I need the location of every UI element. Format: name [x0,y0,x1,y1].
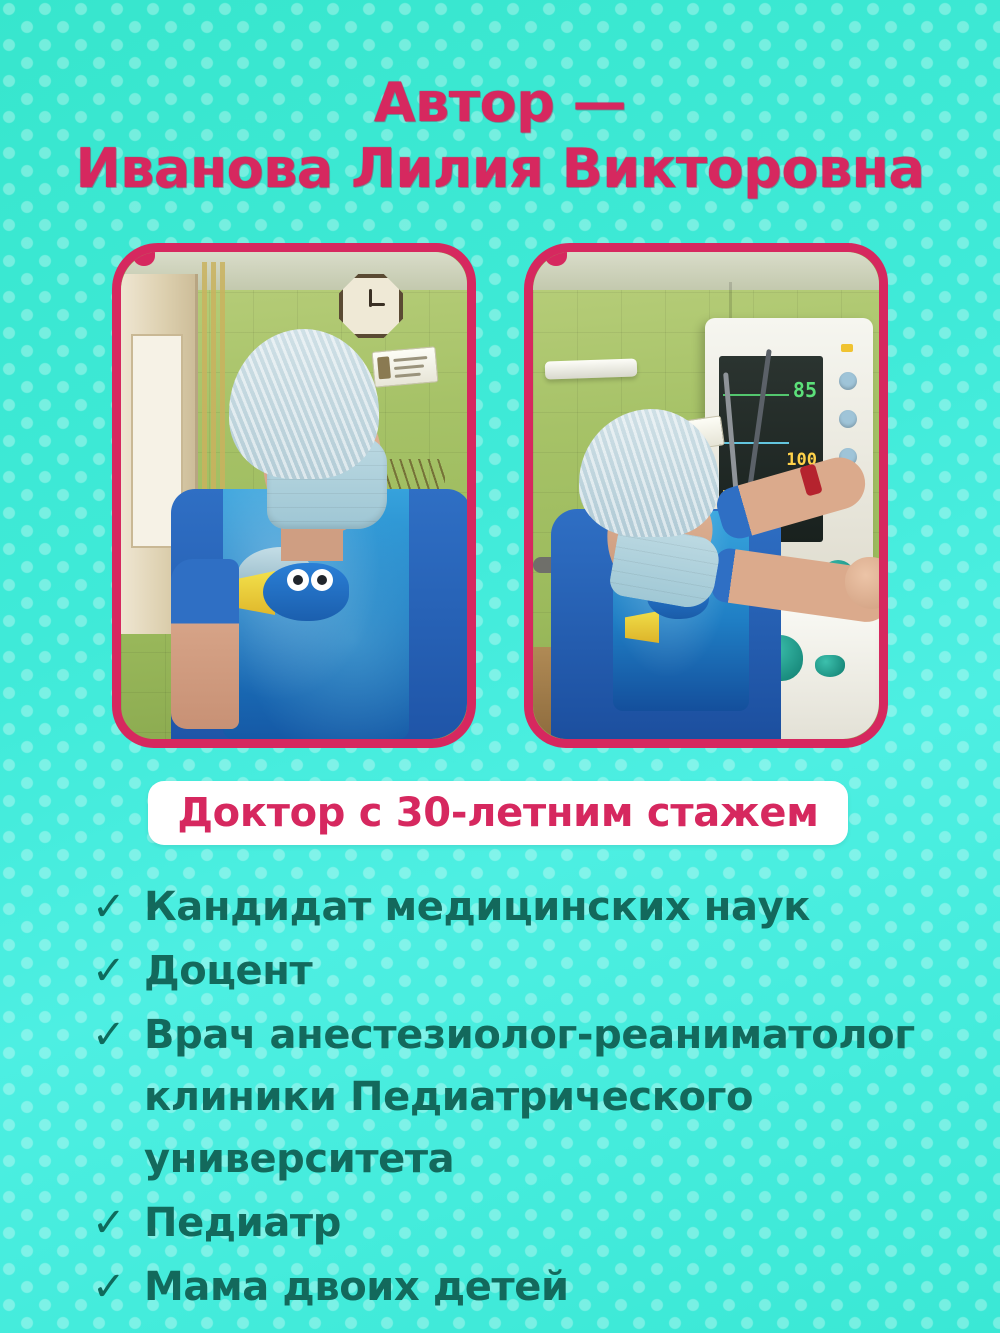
list-item-label: Мама двоих детей [144,1256,988,1318]
title-line-2: Иванова Лилия Викторовна [0,138,1000,200]
blue-fish-icon [263,563,349,621]
list-item: ✓ Мама двоих детей [88,1256,988,1318]
experience-badge-label: Доктор с 30-летним стажем [177,790,818,836]
list-item-label: Врач анестезиолог-реаниматолог клиники П… [144,1004,976,1190]
photo-gallery: 85 100 120/70 [112,243,888,748]
list-item: ✓ Педиатр [88,1192,988,1254]
check-icon: ✓ [88,1256,144,1318]
photo-monitor-content: 85 100 120/70 [533,252,879,739]
anesthesia-valve-knob [815,655,845,677]
monitor-button [839,372,857,390]
experience-badge: Доктор с 30-летним стажем [148,781,848,845]
check-icon: ✓ [88,876,144,938]
surgical-cap [229,329,379,479]
check-icon: ✓ [88,1192,144,1254]
badge-line [395,373,421,378]
list-item: ✓ Доцент [88,940,988,1002]
badge-line [394,364,424,370]
poster-root: Автор — Иванова Лилия Викторовна [0,0,1000,1333]
arm [171,559,239,729]
check-icon: ✓ [88,940,144,1002]
list-item-label: Кандидат медицинских наук [144,876,988,938]
fish-eye [287,569,309,591]
ecg-waveform [723,394,789,396]
check-icon: ✓ [88,1004,144,1066]
list-item: ✓ Кандидат медицинских наук [88,876,988,938]
list-item: ✓ Врач анестезиолог-реаниматолог клиники… [88,1004,988,1190]
doctor-figure [551,409,801,739]
list-item-label: Доцент [144,940,988,1002]
monitor-hr-value: 85 [793,380,817,400]
name-badge [372,346,439,387]
doctor-figure [171,329,467,739]
photo-portrait-content [121,252,467,739]
fish-eye [311,569,333,591]
credentials-list: ✓ Кандидат медицинских наук ✓ Доцент ✓ В… [88,876,988,1320]
page-title: Автор — Иванова Лилия Викторовна [0,72,1000,199]
ceiling [533,252,879,290]
list-item-label: Педиатр [144,1192,988,1254]
monitor-button [839,410,857,428]
monitor-led-icon [841,344,853,352]
photo-doctor-at-monitor: 85 100 120/70 [524,243,888,748]
badge-line [393,356,427,362]
title-line-1: Автор — [0,72,1000,134]
wall-lamp [545,358,638,379]
photo-doctor-portrait [112,243,476,748]
